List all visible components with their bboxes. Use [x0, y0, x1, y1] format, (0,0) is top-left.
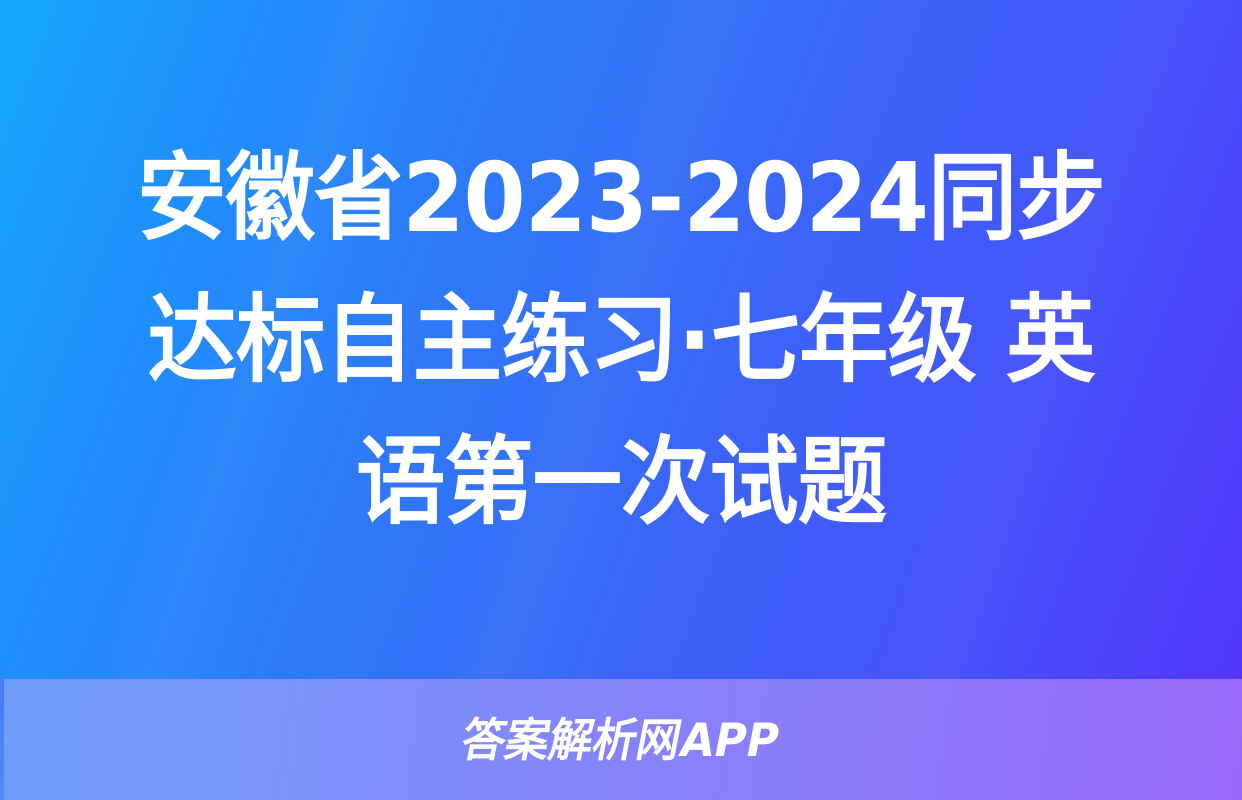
- exam-paper-cover-banner: 安徽省2023-2024同步达标自主练习·七年级 英语第一次试题 答案解析网AP…: [0, 0, 1242, 800]
- title-container: 安徽省2023-2024同步达标自主练习·七年级 英语第一次试题: [0, 0, 1242, 679]
- footer-watermark-bar: 答案解析网APP: [0, 679, 1242, 800]
- app-watermark-label: 答案解析网APP: [458, 717, 783, 763]
- hero-gradient-background: 安徽省2023-2024同步达标自主练习·七年级 英语第一次试题: [0, 0, 1242, 679]
- page-title: 安徽省2023-2024同步达标自主练习·七年级 英语第一次试题: [133, 127, 1110, 553]
- footer-left-edge-accent: [0, 679, 4, 800]
